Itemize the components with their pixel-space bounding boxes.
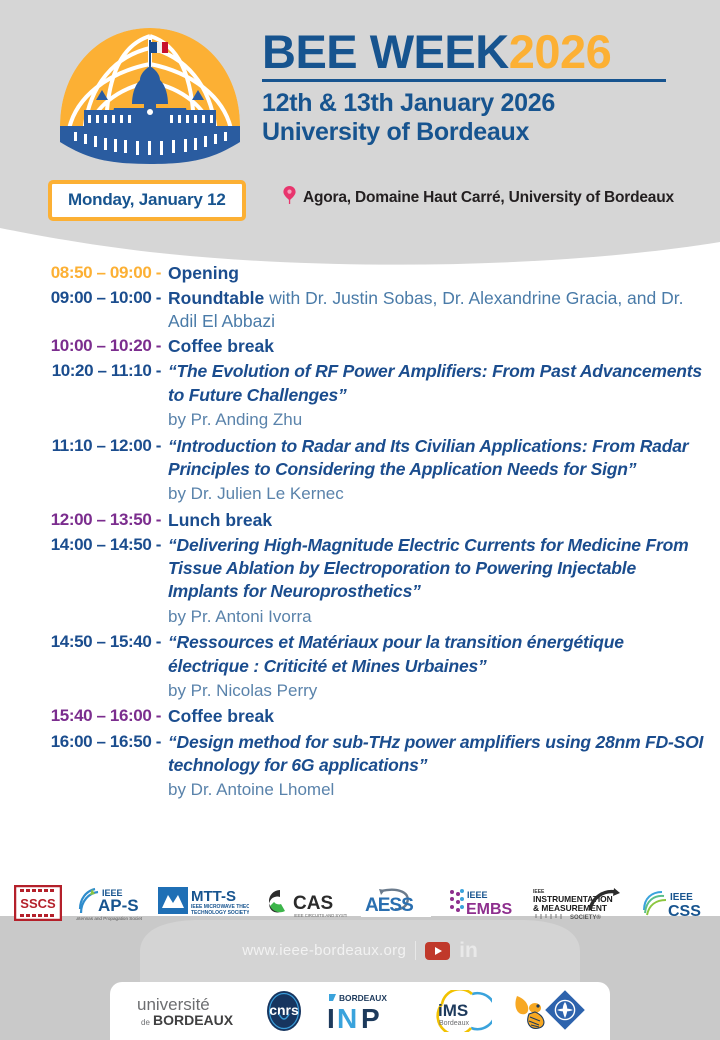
svg-text:SOCIETY®: SOCIETY®: [570, 914, 601, 921]
schedule-talk-title: “Delivering High-Magnitude Electric Curr…: [168, 535, 688, 602]
venue-text: Agora, Domaine Haut Carré, University of…: [303, 189, 674, 206]
svg-text:I: I: [327, 1003, 335, 1032]
schedule-time: 09:00 – 10:00 -: [0, 287, 168, 309]
schedule-time: 12:00 – 13:50 -: [0, 509, 168, 531]
svg-text:CSS: CSS: [668, 903, 701, 920]
society-logo-aps: IEEE AP-S Antennas and Propagation Socie…: [76, 883, 142, 923]
schedule-row: 14:50 – 15:40 - “Ressources et Matériaux…: [0, 631, 720, 703]
schedule-time: 10:20 – 11:10 -: [0, 360, 168, 382]
schedule-time: 14:50 – 15:40 -: [0, 631, 168, 653]
svg-text:N: N: [337, 1003, 357, 1032]
svg-text:BORDEAUX: BORDEAUX: [153, 1012, 234, 1028]
schedule-body: Lunch break: [168, 509, 720, 532]
title-divider: [262, 79, 666, 82]
society-logo-strip: SSCS IEEE AP-S Antennas and Propagation …: [0, 880, 720, 926]
svg-text:Antennas and Propagation Socie: Antennas and Propagation Society: [76, 916, 142, 921]
svg-text:EMBS: EMBS: [466, 901, 513, 918]
schedule-speaker: by Dr. Antoine Lhomel: [168, 778, 704, 803]
schedule-body: Opening: [168, 262, 720, 285]
schedule-row: 16:00 – 16:50 - “Design method for sub-T…: [0, 731, 720, 803]
schedule-title: Lunch break: [168, 510, 272, 530]
schedule-time: 16:00 – 16:50 -: [0, 731, 168, 753]
society-logo-cas: CAS IEEE CIRCUITS AND SYSTEMS SOCIETY: [263, 885, 347, 921]
schedule-speaker: by Pr. Antoni Ivorra: [168, 605, 704, 630]
svg-text:IEEE CIRCUITS AND SYSTEMS SOCI: IEEE CIRCUITS AND SYSTEMS SOCIETY: [294, 913, 347, 918]
schedule-time: 10:00 – 10:20 -: [0, 335, 168, 357]
schedule-row: 10:20 – 11:10 - “The Evolution of RF Pow…: [0, 360, 720, 432]
schedule-speaker: by Pr. Nicolas Perry: [168, 679, 704, 704]
schedule-body: “Delivering High-Magnitude Electric Curr…: [168, 534, 720, 629]
subtitle-university: University of Bordeaux: [262, 118, 702, 147]
schedule-row: 15:40 – 16:00 - Coffee break: [0, 705, 720, 728]
schedule-row: 10:00 – 10:20 - Coffee break: [0, 335, 720, 358]
map-pin-icon: [283, 186, 299, 211]
svg-text:AP-S: AP-S: [98, 896, 139, 915]
svg-text:AESS: AESS: [365, 895, 413, 916]
schedule-body: “Design method for sub-THz power amplifi…: [168, 731, 720, 803]
svg-text:SSCS: SSCS: [20, 896, 56, 911]
title-main-gold: 2026: [509, 25, 612, 78]
svg-text:IEEE: IEEE: [467, 890, 488, 900]
svg-text:BORDEAUX: BORDEAUX: [339, 993, 387, 1003]
society-logo-sscs: SSCS: [14, 885, 62, 921]
title-main-dark: BEE WEEK: [262, 25, 509, 78]
svg-text:MTT-S: MTT-S: [191, 888, 236, 905]
schedule-speaker: by Pr. Anding Zhu: [168, 408, 704, 433]
schedule-title: Opening: [168, 263, 239, 283]
sponsor-logo-bordeaux-inp: BORDEAUX I N P: [325, 990, 407, 1032]
schedule-talk-title: “Design method for sub-THz power amplifi…: [168, 732, 703, 775]
svg-text:Bordeaux: Bordeaux: [439, 1020, 469, 1027]
society-logo-embs: IEEE EMBS: [445, 885, 515, 921]
schedule-talk-title: “Introduction to Radar and Its Civilian …: [168, 436, 688, 479]
date-badge-label: Monday, January 12: [68, 190, 226, 209]
schedule-list: 08:50 – 09:00 - Opening 09:00 – 10:00 - …: [0, 262, 720, 805]
schedule-lede: Roundtable: [168, 288, 264, 308]
title-block: BEE WEEK2026 12th & 13th January 2026 Un…: [262, 28, 702, 147]
svg-text:TECHNOLOGY SOCIETY: TECHNOLOGY SOCIETY: [191, 910, 249, 916]
svg-text:& MEASUREMENT: & MEASUREMENT: [533, 903, 608, 913]
schedule-time: 15:40 – 16:00 -: [0, 705, 168, 727]
sponsor-logo-ims-bordeaux: iMS Bordeaux: [426, 990, 492, 1032]
subtitle: 12th & 13th January 2026 University of B…: [262, 89, 702, 147]
svg-text:P: P: [361, 1003, 380, 1032]
schedule-row: 12:00 – 13:50 - Lunch break: [0, 509, 720, 532]
schedule-body: Roundtable with Dr. Justin Sobas, Dr. Al…: [168, 287, 720, 333]
poster-root: BEE WEEK2026 12th & 13th January 2026 Un…: [0, 0, 720, 1040]
schedule-body: Coffee break: [168, 335, 720, 358]
schedule-talk-title: “The Evolution of RF Power Amplifiers: F…: [168, 361, 702, 404]
schedule-time: 11:10 – 12:00 -: [0, 435, 168, 457]
society-logo-aess: AESS: [361, 885, 431, 921]
schedule-time: 14:00 – 14:50 -: [0, 534, 168, 556]
schedule-body: “Ressources et Matériaux pour la transit…: [168, 631, 720, 703]
schedule-time: 08:50 – 09:00 -: [0, 262, 168, 284]
schedule-body: “Introduction to Radar and Its Civilian …: [168, 435, 720, 507]
schedule-row: 08:50 – 09:00 - Opening: [0, 262, 720, 285]
subtitle-dates: 12th & 13th January 2026: [262, 89, 702, 118]
sponsor-logo-universite-de-bordeaux: université de BORDEAUX: [135, 991, 243, 1031]
youtube-icon[interactable]: [425, 942, 450, 960]
svg-text:cnrs: cnrs: [269, 1002, 299, 1018]
schedule-talk-title: “Ressources et Matériaux pour la transit…: [168, 632, 624, 675]
website-url[interactable]: www.ieee-bordeaux.org: [242, 942, 406, 959]
society-logo-instrumentation-measurement: IEEE INSTRUMENTATION & MEASUREMENT SOCIE…: [530, 884, 626, 922]
linkedin-icon[interactable]: in: [459, 940, 478, 961]
schedule-row: 09:00 – 10:00 - Roundtable with Dr. Just…: [0, 287, 720, 333]
schedule-row: 14:00 – 14:50 - “Delivering High-Magnitu…: [0, 534, 720, 629]
svg-text:IEEE: IEEE: [670, 892, 693, 903]
date-badge[interactable]: Monday, January 12: [48, 180, 246, 221]
schedule-row: 11:10 – 12:00 - “Introduction to Radar a…: [0, 435, 720, 507]
svg-text:CAS: CAS: [293, 893, 333, 914]
schedule-speaker: by Dr. Julien Le Kernec: [168, 482, 704, 507]
schedule-body: “The Evolution of RF Power Amplifiers: F…: [168, 360, 720, 432]
society-logo-mtts: MTT-S IEEE MICROWAVE THEORY & TECHNOLOGY…: [157, 883, 249, 923]
sponsor-bar: université de BORDEAUX cnrs BORDEAUX I N…: [110, 982, 610, 1040]
schedule-body: Coffee break: [168, 705, 720, 728]
svg-text:de: de: [141, 1018, 150, 1027]
society-logo-css: IEEE CSS: [640, 884, 706, 922]
footer-links: www.ieee-bordeaux.org in: [0, 940, 720, 961]
footer-divider: [415, 941, 416, 960]
page-title: BEE WEEK2026: [262, 28, 702, 75]
svg-text:iMS: iMS: [438, 1001, 468, 1020]
schedule-title: Coffee break: [168, 336, 274, 356]
venue-line: Agora, Domaine Haut Carré, University of…: [283, 186, 683, 211]
sponsor-logo-bee-emblem: [511, 990, 585, 1032]
schedule-title: Coffee break: [168, 706, 274, 726]
sponsor-logo-cnrs: cnrs: [262, 990, 306, 1032]
bordeaux-palace-sun-emblem: [44, 22, 256, 174]
